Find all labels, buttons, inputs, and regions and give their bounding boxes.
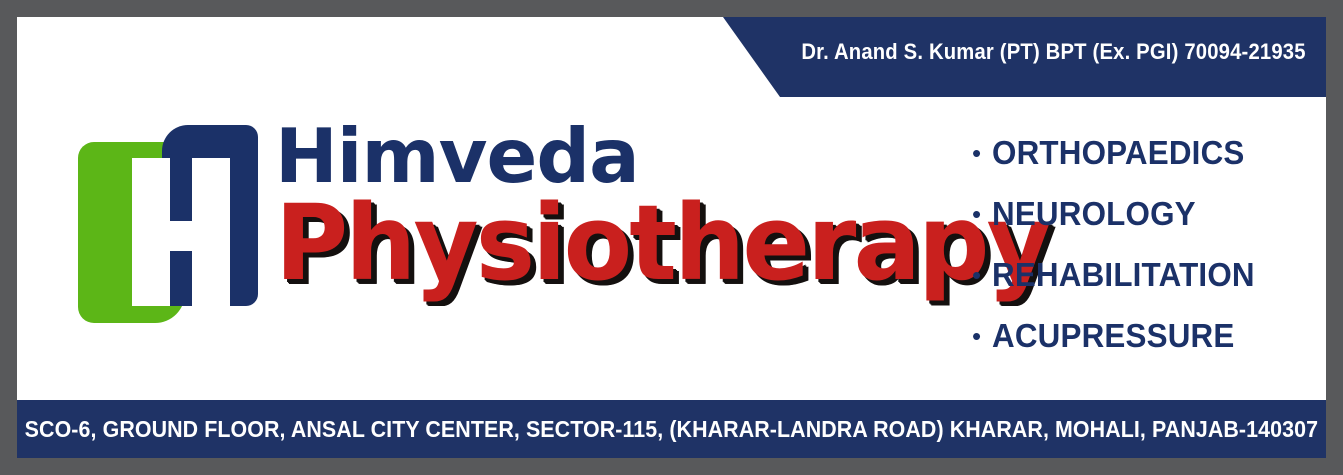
- service-label: ORTHOPAEDICS: [992, 134, 1245, 172]
- bullet-icon: •: [972, 201, 992, 227]
- brand-wordmark: Himveda Physiotherapy: [275, 117, 955, 297]
- service-label: REHABILITATION: [992, 256, 1255, 294]
- services-list: • ORTHOPAEDICS • NEUROLOGY • REHABILITAT…: [972, 122, 1312, 366]
- service-label: NEUROLOGY: [992, 195, 1196, 233]
- bullet-icon: •: [972, 262, 992, 288]
- signboard-canvas: Dr. Anand S. Kumar (PT) BPT (Ex. PGI) 70…: [17, 17, 1326, 458]
- clinic-address-text: SCO-6, GROUND FLOOR, ANSAL CITY CENTER, …: [25, 416, 1318, 443]
- practitioner-credentials-text: Dr. Anand S. Kumar (PT) BPT (Ex. PGI) 70…: [801, 39, 1292, 65]
- address-bar: SCO-6, GROUND FLOOR, ANSAL CITY CENTER, …: [17, 400, 1326, 458]
- service-item-orthopaedics: • ORTHOPAEDICS: [972, 122, 1312, 183]
- service-item-rehabilitation: • REHABILITATION: [972, 244, 1312, 305]
- bullet-icon: •: [972, 323, 992, 349]
- service-item-acupressure: • ACUPRESSURE: [972, 305, 1312, 366]
- service-item-neurology: • NEUROLOGY: [972, 183, 1312, 244]
- himveda-logo: [78, 125, 258, 323]
- service-label: ACUPRESSURE: [992, 317, 1234, 355]
- bullet-icon: •: [972, 140, 992, 166]
- logo-h-crossbar: [132, 221, 230, 251]
- clinic-signboard: Dr. Anand S. Kumar (PT) BPT (Ex. PGI) 70…: [0, 0, 1343, 475]
- brand-name-secondary: Physiotherapy: [275, 189, 928, 297]
